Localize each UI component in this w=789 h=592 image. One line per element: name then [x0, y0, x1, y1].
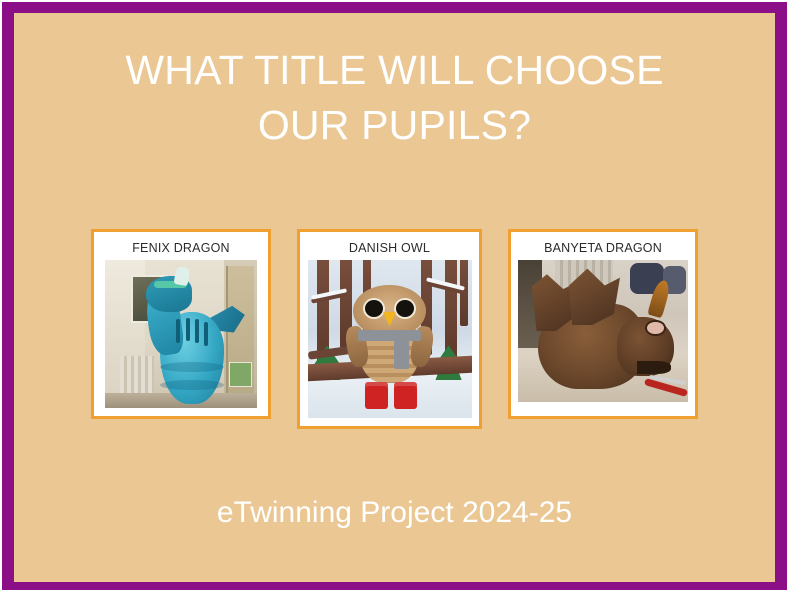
title-line-1: WHAT TITLE WILL CHOOSE — [14, 43, 775, 98]
image-card-banyeta-dragon[interactable]: BANYETA DRAGON — [508, 229, 698, 419]
image-card-fenix-dragon[interactable]: FENIX DRAGON — [91, 229, 271, 419]
slide-purple-border: WHAT TITLE WILL CHOOSE OUR PUPILS? FENIX… — [2, 2, 787, 590]
image-card-danish-owl[interactable]: DANISH OWL — [297, 229, 482, 429]
slide-title: WHAT TITLE WILL CHOOSE OUR PUPILS? — [14, 43, 775, 153]
slide-footer: eTwinning Project 2024-25 — [14, 493, 775, 533]
image-card-label: BANYETA DRAGON — [544, 237, 662, 260]
title-line-2: OUR PUPILS? — [14, 98, 775, 153]
bronze-dragon-sculpture-photo — [518, 260, 688, 402]
footer-text: eTwinning Project 2024-25 — [217, 496, 572, 529]
image-card-label: FENIX DRAGON — [132, 237, 230, 260]
lego-owl-snowy-forest-photo — [308, 260, 472, 418]
presentation-slide: WHAT TITLE WILL CHOOSE OUR PUPILS? FENIX… — [0, 0, 789, 592]
image-card-label: DANISH OWL — [349, 237, 430, 260]
image-card-row: FENIX DRAGON — [14, 229, 775, 439]
slide-content-area: WHAT TITLE WILL CHOOSE OUR PUPILS? FENIX… — [14, 13, 775, 582]
blue-dragon-sculpture-photo — [105, 260, 257, 408]
